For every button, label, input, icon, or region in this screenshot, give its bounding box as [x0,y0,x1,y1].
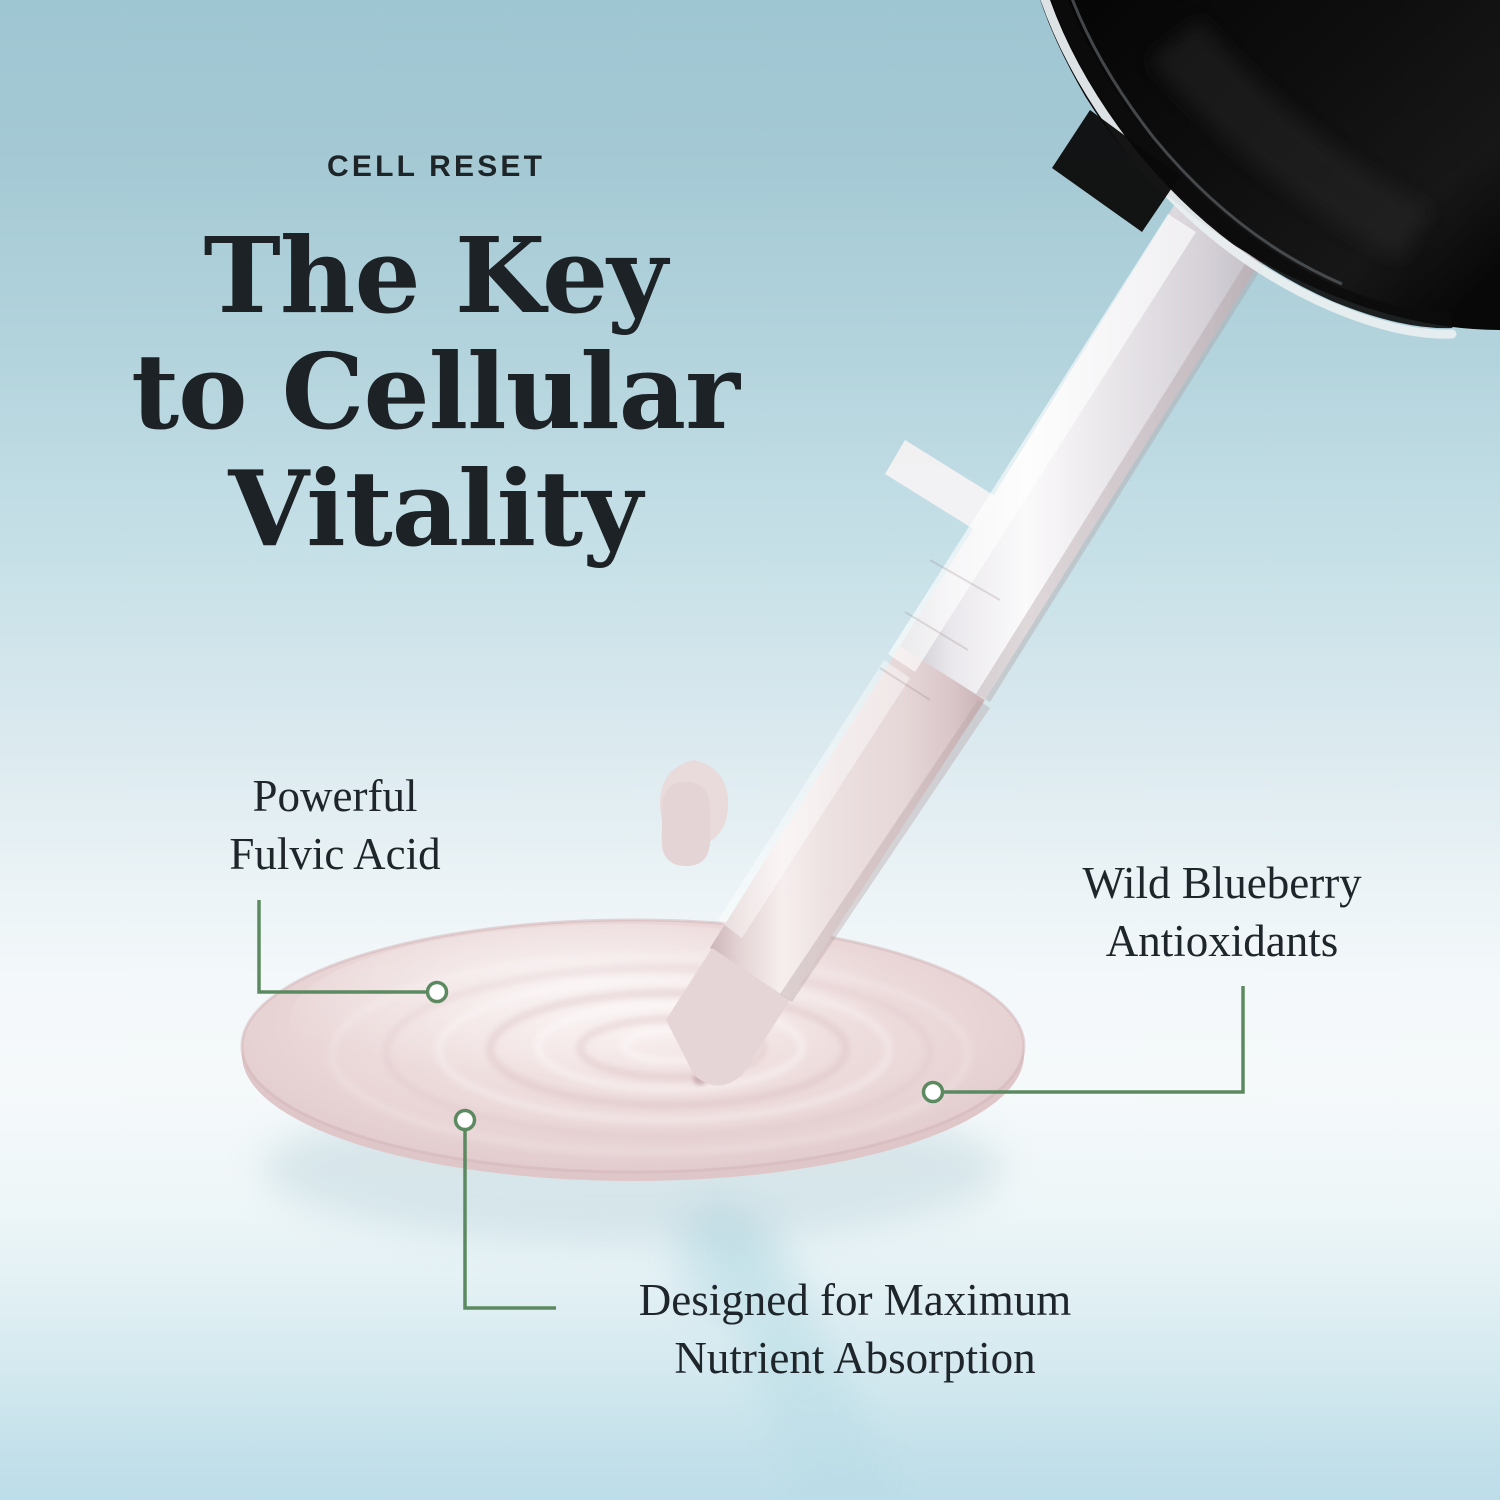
callout-blueberry-line-1: Wild Blueberry [1052,855,1392,913]
page-title: The Key to Cellular Vitality [115,218,755,567]
headline-line-2: to Cellular [115,334,755,450]
callout-absorption-line-1: Designed for Maximum [600,1272,1110,1330]
callout-fulvic-line-2: Fulvic Acid [175,826,495,884]
callout-label-nutrient-absorption: Designed for Maximum Nutrient Absorption [600,1272,1110,1387]
headline-line-3: Vitality [115,451,755,567]
callout-fulvic-line-1: Powerful [175,768,495,826]
callout-label-wild-blueberry: Wild Blueberry Antioxidants [1052,855,1392,970]
callout-label-fulvic-acid: Powerful Fulvic Acid [175,768,495,883]
dropper-bulb [1030,0,1500,334]
eyebrow-label: CELL RESET [327,150,545,184]
headline-line-1: The Key [115,218,755,334]
product-feature-image: CELL RESET The Key to Cellular Vitality … [0,0,1500,1500]
serum-pool [242,920,1024,1181]
callout-absorption-line-2: Nutrient Absorption [600,1330,1110,1388]
callout-blueberry-line-2: Antioxidants [1052,913,1392,971]
